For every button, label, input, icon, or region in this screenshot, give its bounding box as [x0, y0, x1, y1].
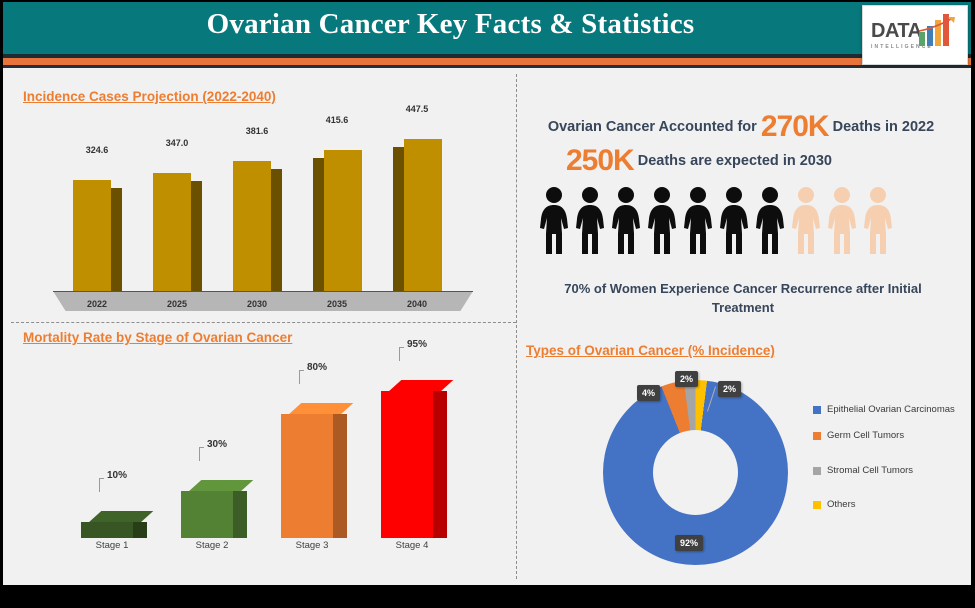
bar-front: [81, 522, 133, 538]
bar-side: [433, 391, 447, 538]
axis-label-2022: 2022: [67, 299, 127, 309]
chart-baseline: [53, 291, 473, 292]
legend-label: Stromal Cell Tumors: [827, 465, 913, 476]
value-leader-line: [399, 347, 400, 361]
types-donut-chart: 4% 2% 2% 92%: [603, 380, 788, 565]
incidence-bar-chart: 324.6347.0381.6415.6447.5 20222025203020…: [11, 107, 511, 312]
bar-front: [73, 180, 111, 291]
bar-side: [271, 169, 282, 291]
donut-label-others: 2%: [718, 381, 741, 397]
bar-front: [404, 139, 442, 291]
deaths-2022-value: 270K: [761, 110, 829, 143]
header-accent-strip: [3, 58, 971, 65]
donut-label-stromal: 2%: [675, 371, 698, 387]
bar-front: [324, 150, 362, 291]
mortality-value-stage-2: 30%: [207, 439, 227, 450]
bar-value-2025: 347.0: [147, 138, 207, 148]
mortality-bar-chart: 10%30%80%95% Stage 1Stage 2Stage 3Stage …: [11, 350, 511, 580]
legend-item-1: Germ Cell Tumors: [813, 430, 963, 443]
logo: DATA INTELLIGENCE: [862, 5, 968, 65]
bar-side: [333, 414, 347, 538]
mortality-value-stage-1: 10%: [107, 470, 127, 481]
value-leader-line: [99, 478, 100, 492]
legend-label: Epithelial Ovarian Carcinomas: [827, 404, 955, 415]
bar-value-2040: 447.5: [387, 104, 447, 114]
bar-value-2030: 381.6: [227, 126, 287, 136]
axis-label-2025: 2025: [147, 299, 207, 309]
mortality-section-title: Mortality Rate by Stage of Ovarian Cance…: [23, 330, 292, 345]
value-leader-line: [199, 447, 200, 461]
person-icon: [611, 186, 641, 254]
legend-item-3: Others: [813, 499, 963, 512]
person-icon: [863, 186, 893, 254]
bar-front: [281, 414, 333, 538]
legend-swatch: [813, 467, 821, 475]
mortality-value-stage-4: 95%: [407, 339, 427, 350]
bottom-border: [0, 585, 975, 608]
stage-label-3: Stage 3: [267, 540, 357, 551]
value-leader-line: [299, 370, 300, 384]
donut-label-germ: 4%: [637, 385, 660, 401]
infographic-canvas: Ovarian Cancer Key Facts & Statistics DA…: [3, 2, 971, 585]
bar-value-2022: 324.6: [67, 145, 127, 155]
vertical-divider: [516, 74, 517, 579]
donut-legend: Epithelial Ovarian CarcinomasGerm Cell T…: [813, 404, 963, 525]
person-icon: [539, 186, 569, 254]
bar-front: [233, 161, 271, 291]
legend-swatch: [813, 501, 821, 509]
bar-side: [111, 188, 122, 291]
bar-side: [233, 491, 247, 538]
logo-text: DATA: [871, 20, 922, 43]
axis-label-2030: 2030: [227, 299, 287, 309]
header-divider-dark-2: [3, 65, 971, 68]
bar-side: [313, 158, 324, 291]
deaths-2022-prefix: Ovarian Cancer Accounted for: [548, 119, 761, 135]
bar-front: [153, 173, 191, 291]
logo-bar-1: [919, 32, 925, 46]
person-icon: [755, 186, 785, 254]
bar-side: [393, 147, 404, 291]
legend-swatch: [813, 432, 821, 440]
deaths-2030-value: 250K: [566, 144, 634, 177]
deaths-2030-suffix: Deaths are expected in 2030: [634, 153, 832, 169]
legend-item-0: Epithelial Ovarian Carcinomas: [813, 404, 963, 417]
mortality-value-stage-3: 80%: [307, 362, 327, 373]
incidence-section-title: Incidence Cases Projection (2022-2040): [23, 89, 276, 104]
value-leader-tick: [299, 370, 304, 371]
deaths-2030-stat: 250K Deaths are expected in 2030: [526, 144, 956, 178]
legend-label: Germ Cell Tumors: [827, 430, 904, 441]
donut-label-epithelial: 92%: [675, 535, 703, 551]
person-icon: [647, 186, 677, 254]
types-section-title: Types of Ovarian Cancer (% Incidence): [526, 343, 775, 358]
bar-side: [133, 522, 147, 538]
logo-arrow-icon: [918, 16, 958, 32]
people-pictogram: [539, 186, 899, 256]
donut-hole: [653, 430, 738, 515]
header-bar: Ovarian Cancer Key Facts & Statistics: [3, 2, 971, 54]
recurrence-stat: 70% of Women Experience Cancer Recurrenc…: [543, 280, 943, 318]
axis-label-2040: 2040: [387, 299, 447, 309]
infographic-frame: Ovarian Cancer Key Facts & Statistics DA…: [0, 0, 975, 608]
deaths-2022-stat: Ovarian Cancer Accounted for 270K Deaths…: [526, 110, 956, 144]
legend-swatch: [813, 406, 821, 414]
bar-side: [191, 181, 202, 291]
axis-label-2035: 2035: [307, 299, 367, 309]
value-leader-tick: [99, 478, 104, 479]
page-title: Ovarian Cancer Key Facts & Statistics: [3, 8, 898, 41]
person-icon: [719, 186, 749, 254]
person-icon: [827, 186, 857, 254]
deaths-2022-suffix: Deaths in 2022: [829, 119, 935, 135]
person-icon: [791, 186, 821, 254]
value-leader-tick: [399, 347, 404, 348]
legend-item-2: Stromal Cell Tumors: [813, 465, 963, 478]
person-icon: [683, 186, 713, 254]
stage-label-2: Stage 2: [167, 540, 257, 551]
person-icon: [575, 186, 605, 254]
value-leader-tick: [199, 447, 204, 448]
bar-value-2035: 415.6: [307, 115, 367, 125]
horizontal-divider: [11, 322, 516, 323]
stage-label-4: Stage 4: [367, 540, 457, 551]
bar-front: [381, 391, 433, 538]
stage-label-1: Stage 1: [67, 540, 157, 551]
bar-front: [181, 491, 233, 538]
legend-label: Others: [827, 499, 856, 510]
